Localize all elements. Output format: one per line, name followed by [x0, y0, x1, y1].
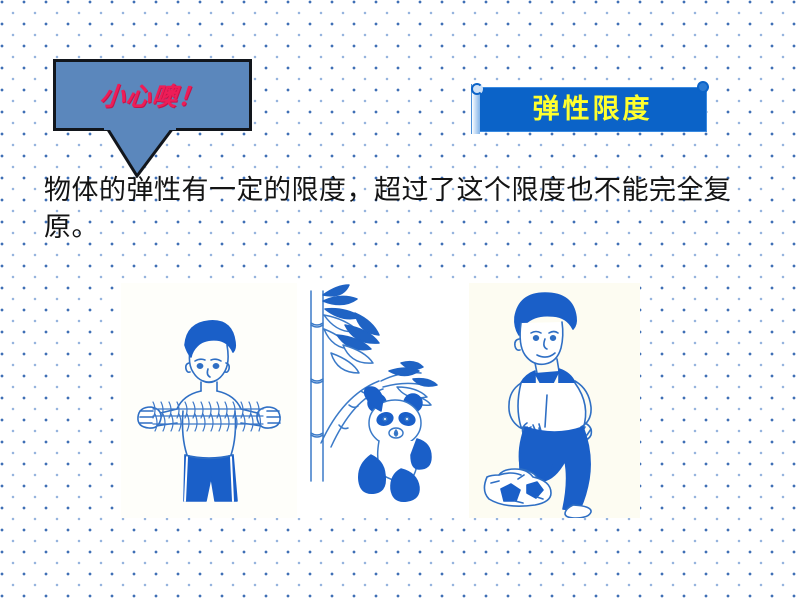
callout-bubble: 小心噢！	[53, 59, 252, 131]
title-banner-text: 弹性限度	[533, 96, 653, 123]
callout-tail-icon	[101, 128, 179, 178]
illustration-strip	[121, 283, 640, 518]
panel-panda-bending-bamboo	[297, 283, 469, 518]
slide-canvas: 小心噢！ 弹性限度 物体的弹性有一定的限度，超过了这个限度也不能完全复原。	[0, 0, 800, 600]
body-paragraph: 物体的弹性有一定的限度，超过了这个限度也不能完全复原。	[44, 173, 766, 246]
title-banner: 弹性限度	[471, 84, 707, 134]
scroll-curl-icon-left	[471, 83, 483, 95]
callout-text: 小心噢！	[99, 77, 207, 113]
panel-boy-stretching-chest-expander	[121, 283, 297, 518]
panel-boy-with-deflated-football	[469, 283, 640, 518]
title-banner-plate: 弹性限度	[478, 87, 707, 132]
